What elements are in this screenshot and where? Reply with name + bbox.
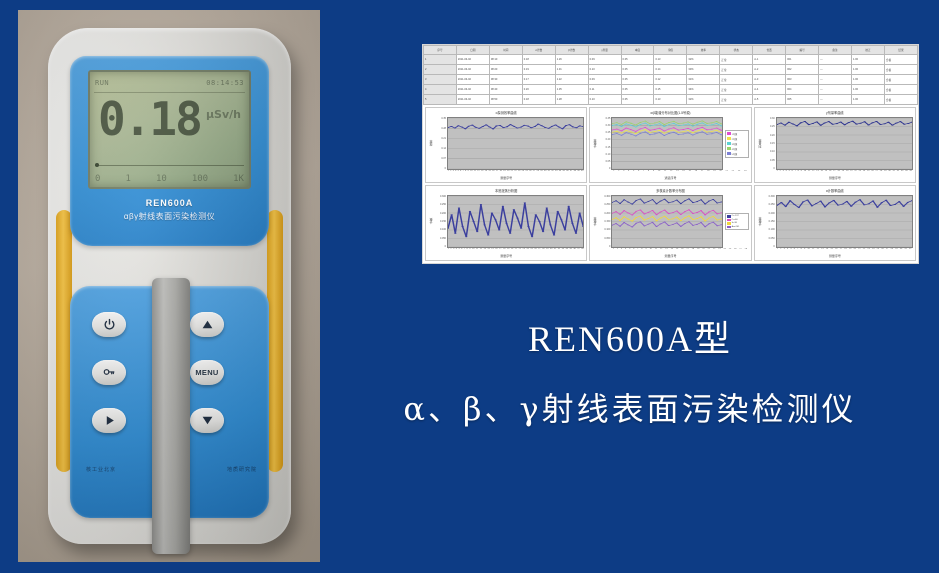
table-cell: 08:30 (489, 75, 522, 85)
table-cell: 2011-03-02 (456, 75, 489, 85)
legend-item: 4号源 (727, 147, 747, 151)
legend-label: Cs-137 (732, 215, 739, 217)
table-cell: 4 (424, 85, 457, 95)
table-cell: 004 (786, 85, 819, 95)
table-cell: — (819, 85, 852, 95)
legend-item: 5号源 (727, 152, 747, 156)
lcd-unit-label: μSv/h (206, 108, 241, 121)
table-cell: 0.13 (654, 95, 687, 105)
table-cell: 合格 (884, 75, 917, 85)
chart-y-tick: 0.20 (606, 138, 611, 141)
table-cell: — (819, 75, 852, 85)
table-cell: 1.28 (555, 95, 588, 105)
table-cell: 1.00 (851, 65, 884, 75)
up-button[interactable] (190, 312, 224, 337)
table-cell: 0.14 (654, 65, 687, 75)
chart-y-tick: 0.050 (440, 237, 446, 240)
table-cell: 合格 (884, 65, 917, 75)
table-cell: 0.09 (588, 75, 621, 85)
chart-y-axis-label: 计数 (428, 195, 434, 248)
legend-item: Cs-137 (727, 215, 747, 218)
table-cell: 2 (424, 65, 457, 75)
chart-x-axis-label: 测量序号 (757, 254, 913, 259)
chart-card: 多核素计数率分布图计数率0.3000.2500.2000.1500.1000.0… (589, 185, 751, 261)
legend-item: Sr-90 (727, 222, 747, 225)
chart-y-tick: 0.050 (604, 237, 610, 240)
device-brand-right: 地质研究院 (227, 466, 257, 473)
table-cell: 33% (687, 65, 720, 75)
table-column-header: 本底 (621, 46, 654, 55)
play-button[interactable] (92, 408, 126, 433)
table-column-header: 位置 (753, 46, 786, 55)
chart-y-axis-ticks: 0.300.250.200.150.100.050 (763, 117, 776, 170)
table-cell: 31% (687, 75, 720, 85)
table-row: 52011-03-0208:500.181.280.100.050.1332%正… (424, 95, 918, 105)
table-cell: 1.26 (555, 55, 588, 65)
page-title-model: REN600A型 (330, 310, 930, 362)
lcd-bargraph-line (95, 165, 244, 166)
legend-swatch (727, 222, 731, 225)
table-cell: 1.00 (851, 85, 884, 95)
chart-x-axis-label: 测量序号 (757, 176, 913, 181)
chart-plot-area (776, 195, 913, 248)
chart-y-axis-ticks: 0.3000.2500.2000.1500.1000.0500 (763, 195, 776, 248)
chart-y-tick: 0 (445, 167, 446, 170)
chart-y-tick: 0.10 (770, 150, 775, 153)
table-cell: 1.22 (555, 75, 588, 85)
chart-y-axis-label: 计数率 (592, 195, 598, 248)
chart-grid: α探测效率曲线效率0.350.280.210.140.0701234567891… (423, 105, 918, 263)
chart-body: 计数率0.350.300.250.200.150.100.0501号源2号源3号… (592, 117, 748, 170)
device-grip-right (267, 210, 283, 472)
legend-swatch (727, 137, 731, 140)
table-cell: A-3 (753, 75, 786, 85)
table-cell: 0.15 (654, 85, 687, 95)
chart-legend: Cs-137Co-60Sr-90Am-241 (725, 213, 749, 230)
chart-body: 剂量率0.300.250.200.150.100.050 (757, 117, 913, 170)
device-brand-left: 核工业北京 (86, 466, 116, 473)
chart-y-tick: 0.150 (440, 220, 446, 223)
device-model-label: REN600A (70, 198, 269, 208)
chart-y-tick: 0.28 (441, 127, 446, 130)
chart-y-tick: 0.07 (441, 157, 446, 160)
lcd-status-right: 08:14:53 (206, 79, 244, 87)
table-row: 12011-03-0208:100.181.260.090.050.1332%正… (424, 55, 918, 65)
table-column-header: 净值 (654, 46, 687, 55)
table-cell: — (819, 95, 852, 105)
title-block: REN600A型 α、β、γ射线表面污染检测仪 (330, 310, 930, 430)
table-cell: 0.11 (588, 85, 621, 95)
chart-card: γ剂量率曲线剂量率0.300.250.200.150.100.050123456… (754, 107, 916, 183)
chart-y-tick: 0.14 (441, 147, 446, 150)
table-cell: 合格 (884, 55, 917, 65)
table-cell: 2011-03-02 (456, 55, 489, 65)
chart-y-tick: 0.15 (770, 142, 775, 145)
lcd-scale-ticks: 0 1 10 100 1K (95, 174, 244, 184)
table-cell: 001 (786, 55, 819, 65)
table-cell: 08:10 (489, 55, 522, 65)
table-cell: 005 (786, 95, 819, 105)
chart-y-tick: 0.300 (604, 195, 610, 198)
table-cell: 正常 (720, 95, 753, 105)
chart-title: α探测效率曲线 (428, 110, 584, 117)
chart-card: α探测效率曲线效率0.350.280.210.140.0701234567891… (425, 107, 587, 183)
table-column-header: 序号 (424, 46, 457, 55)
chart-x-axis-label: 通道序号 (592, 176, 748, 181)
chart-body: 计数率0.3000.2500.2000.1500.1000.0500Cs-137… (592, 195, 748, 248)
chart-y-axis-label: 计数率 (757, 195, 763, 248)
table-cell: A-4 (753, 85, 786, 95)
table-column-header: 备注 (819, 46, 852, 55)
chart-y-tick: 0.250 (440, 203, 446, 206)
legend-label: 2号源 (732, 137, 738, 141)
table-cell: 08:50 (489, 95, 522, 105)
table-cell: 32% (687, 55, 720, 65)
chart-y-axis-ticks: 0.3000.2500.2000.1500.1000.0500 (434, 195, 447, 248)
table-cell: 0.05 (621, 85, 654, 95)
chart-title: α/β能谱分布对比图(1-5号源) (592, 110, 748, 117)
chart-y-tick: 0.200 (604, 212, 610, 215)
table-row: 22011-03-0208:200.191.310.100.050.1433%正… (424, 65, 918, 75)
legend-item: 2号源 (727, 137, 747, 141)
software-screenshot: 序号日期时间α计数β计数γ剂量本底净值效率状态位置编号备注校正结果 12011-… (422, 44, 919, 264)
table-cell: 0.18 (522, 95, 555, 105)
chart-plot-area (776, 117, 913, 170)
chart-x-axis-label: 测量序号 (592, 254, 748, 259)
lcd-reading-value: 0.18 (98, 96, 201, 142)
table-cell: 0.19 (522, 65, 555, 75)
table-cell: 1 (424, 55, 457, 65)
legend-label: Co-60 (732, 219, 738, 221)
legend-label: 4号源 (732, 147, 738, 151)
table-cell: 1.00 (851, 95, 884, 105)
table-cell: 2011-03-02 (456, 65, 489, 75)
table-column-header: 时间 (489, 46, 522, 55)
chart-y-tick: 0.200 (769, 212, 775, 215)
table-cell: 1.00 (851, 75, 884, 85)
chart-y-axis-label: 效率 (428, 117, 434, 170)
table-cell: 正常 (720, 65, 753, 75)
table-cell: 正常 (720, 85, 753, 95)
chart-y-tick: 0.100 (769, 228, 775, 231)
product-photo: RUN 08:14:53 0.18 μSv/h 0 1 10 100 1K RE… (18, 10, 320, 562)
table-column-header: 日期 (456, 46, 489, 55)
chart-card: α/β能谱分布对比图(1-5号源)计数率0.350.300.250.200.15… (589, 107, 751, 183)
chart-y-axis-label: 计数率 (592, 117, 598, 170)
chart-y-tick: 0.20 (770, 134, 775, 137)
chart-y-tick: 0.050 (769, 237, 775, 240)
chart-y-tick: 0 (773, 245, 774, 248)
lcd-scale-tick: 0 (95, 174, 100, 184)
chart-y-tick: 0 (445, 245, 446, 248)
page-title-description: α、β、γ射线表面污染检测仪 (330, 384, 930, 430)
table-cell: A-5 (753, 95, 786, 105)
chart-y-tick: 0.05 (606, 160, 611, 163)
chart-title: α计数率曲线 (757, 188, 913, 195)
table-cell: 0.05 (621, 55, 654, 65)
triangle-up-icon (201, 318, 214, 331)
lcd-screen: RUN 08:14:53 0.18 μSv/h 0 1 10 100 1K (88, 70, 251, 189)
play-icon (103, 414, 116, 427)
chart-y-tick: 0.300 (440, 195, 446, 198)
table-column-header: 校正 (851, 46, 884, 55)
table-cell: 08:20 (489, 65, 522, 75)
table-header-row: 序号日期时间α计数β计数γ剂量本底净值效率状态位置编号备注校正结果 (424, 46, 918, 55)
down-button[interactable] (190, 408, 224, 433)
legend-item: Am-241 (727, 226, 747, 229)
table-row: 42011-03-0208:400.201.350.110.050.1534%正… (424, 85, 918, 95)
chart-y-tick: 0.30 (606, 124, 611, 127)
table-cell: 1.31 (555, 65, 588, 75)
table-cell: 08:40 (489, 85, 522, 95)
legend-item: 3号源 (727, 142, 747, 146)
device-body: RUN 08:14:53 0.18 μSv/h 0 1 10 100 1K RE… (48, 28, 291, 544)
table-cell: 合格 (884, 95, 917, 105)
chart-y-tick: 0.25 (606, 131, 611, 134)
chart-y-tick: 0.250 (769, 203, 775, 206)
chart-y-tick: 0.250 (604, 203, 610, 206)
table-cell: 0.10 (588, 95, 621, 105)
legend-swatch (727, 147, 731, 150)
chart-y-tick: 0.100 (440, 228, 446, 231)
legend-swatch (727, 226, 731, 229)
triangle-down-icon (201, 414, 214, 427)
power-button[interactable] (92, 312, 126, 337)
chart-plot-area (611, 195, 722, 248)
lcd-scale-tick: 1K (233, 174, 244, 184)
chart-card: α计数率曲线计数率0.3000.2500.2000.1500.1000.0500… (754, 185, 916, 261)
legend-label: 3号源 (732, 142, 738, 146)
table-cell: 2011-03-02 (456, 85, 489, 95)
table-column-header: 结果 (884, 46, 917, 55)
table-cell: 0.20 (522, 85, 555, 95)
table-cell: 0.10 (588, 65, 621, 75)
chart-y-tick: 0 (773, 167, 774, 170)
chart-legend: 1号源2号源3号源4号源5号源 (725, 130, 749, 158)
chart-y-tick: 0.10 (606, 153, 611, 156)
lcd-status-bar: RUN 08:14:53 (95, 76, 244, 90)
chart-y-tick: 0 (609, 245, 610, 248)
legend-label: 1号源 (732, 132, 738, 136)
table-cell: 正常 (720, 55, 753, 65)
chart-body: 计数0.3000.2500.2000.1500.1000.0500 (428, 195, 584, 248)
chart-y-axis-label: 剂量率 (757, 117, 763, 170)
table-cell: 0.17 (522, 75, 555, 85)
chart-y-tick: 0.15 (606, 146, 611, 149)
power-icon (103, 318, 116, 331)
chart-y-tick: 0.30 (770, 117, 775, 120)
table-column-header: 编号 (786, 46, 819, 55)
table-cell: 0.05 (621, 75, 654, 85)
chart-y-tick: 0.100 (604, 228, 610, 231)
table-body: 12011-03-0208:100.181.260.090.050.1332%正… (424, 55, 918, 105)
lcd-scale-tick: 100 (192, 174, 208, 184)
table-cell: A-2 (753, 65, 786, 75)
chart-plot-area (447, 117, 584, 170)
table-cell: 1.35 (555, 85, 588, 95)
legend-swatch (727, 142, 731, 145)
table-column-header: α计数 (522, 46, 555, 55)
table-cell: 003 (786, 75, 819, 85)
device-subtitle-label: αβγ射线表面污染检测仪 (70, 211, 269, 222)
chart-x-axis-label: 测量序号 (428, 254, 584, 259)
table-cell: — (819, 55, 852, 65)
legend-swatch (727, 219, 731, 222)
table-cell: 5 (424, 95, 457, 105)
legend-swatch (727, 152, 731, 155)
lcd-scale-tick: 10 (156, 174, 167, 184)
chart-y-tick: 0.25 (770, 125, 775, 128)
table-column-header: 状态 (720, 46, 753, 55)
legend-swatch (727, 215, 731, 218)
legend-swatch (727, 132, 731, 135)
legend-label: Sr-90 (732, 222, 737, 224)
chart-y-tick: 0.05 (770, 159, 775, 162)
chart-y-tick: 0 (609, 167, 610, 170)
chart-title: γ剂量率曲线 (757, 110, 913, 117)
chart-body: 计数率0.3000.2500.2000.1500.1000.0500 (757, 195, 913, 248)
menu-text-icon: MENU (195, 368, 218, 377)
legend-label: Am-241 (732, 226, 740, 228)
menu-button[interactable]: MENU (190, 360, 224, 385)
table-cell: 0.05 (621, 95, 654, 105)
table-column-header: 效率 (687, 46, 720, 55)
table-cell: A-1 (753, 55, 786, 65)
table-cell: 0.12 (654, 75, 687, 85)
table-cell: 2011-03-02 (456, 95, 489, 105)
chart-y-tick: 0.200 (440, 212, 446, 215)
table-column-header: β计数 (555, 46, 588, 55)
table-cell: — (819, 65, 852, 75)
device-hand-strap (152, 278, 190, 554)
legend-item: Co-60 (727, 219, 747, 222)
chart-y-tick: 0.35 (606, 117, 611, 120)
table-column-header: γ剂量 (588, 46, 621, 55)
key-icon (102, 366, 116, 379)
table-cell: 32% (687, 95, 720, 105)
table-cell: 正常 (720, 75, 753, 85)
chart-y-axis-ticks: 0.350.300.250.200.150.100.050 (598, 117, 611, 170)
table-cell: 002 (786, 65, 819, 75)
chart-x-axis-label: 测量序号 (428, 176, 584, 181)
chart-y-tick: 0.35 (441, 117, 446, 120)
lcd-scale-tick: 1 (125, 174, 130, 184)
table-cell: 0.09 (588, 55, 621, 65)
table-cell: 0.18 (522, 55, 555, 65)
chart-y-axis-ticks: 0.3000.2500.2000.1500.1000.0500 (598, 195, 611, 248)
legend-label: 5号源 (732, 152, 738, 156)
table-cell: 1.00 (851, 55, 884, 65)
chart-body: 效率0.350.280.210.140.070 (428, 117, 584, 170)
table-row: 32011-03-0208:300.171.220.090.050.1231%正… (424, 75, 918, 85)
table-cell: 0.13 (654, 55, 687, 65)
chart-y-tick: 0.300 (769, 195, 775, 198)
key-button[interactable] (92, 360, 126, 385)
chart-plot-area (447, 195, 584, 248)
chart-card: 本底涨落分析图计数0.3000.2500.2000.1500.1000.0500… (425, 185, 587, 261)
table-cell: 0.05 (621, 65, 654, 75)
table-cell: 34% (687, 85, 720, 95)
lcd-bargraph-marker (95, 163, 99, 167)
table-cell: 3 (424, 75, 457, 85)
table-cell: 合格 (884, 85, 917, 95)
chart-y-axis-ticks: 0.350.280.210.140.070 (434, 117, 447, 170)
chart-y-tick: 0.21 (441, 137, 446, 140)
chart-y-tick: 0.150 (769, 220, 775, 223)
lcd-status-left: RUN (95, 79, 109, 87)
chart-plot-area (611, 117, 722, 170)
chart-y-tick: 0.150 (604, 220, 610, 223)
legend-item: 1号源 (727, 132, 747, 136)
device-display-panel: RUN 08:14:53 0.18 μSv/h 0 1 10 100 1K RE… (70, 56, 269, 246)
chart-title: 本底涨落分析图 (428, 188, 584, 195)
chart-title: 多核素计数率分布图 (592, 188, 748, 195)
data-table: 序号日期时间α计数β计数γ剂量本底净值效率状态位置编号备注校正结果 12011-… (423, 45, 918, 105)
